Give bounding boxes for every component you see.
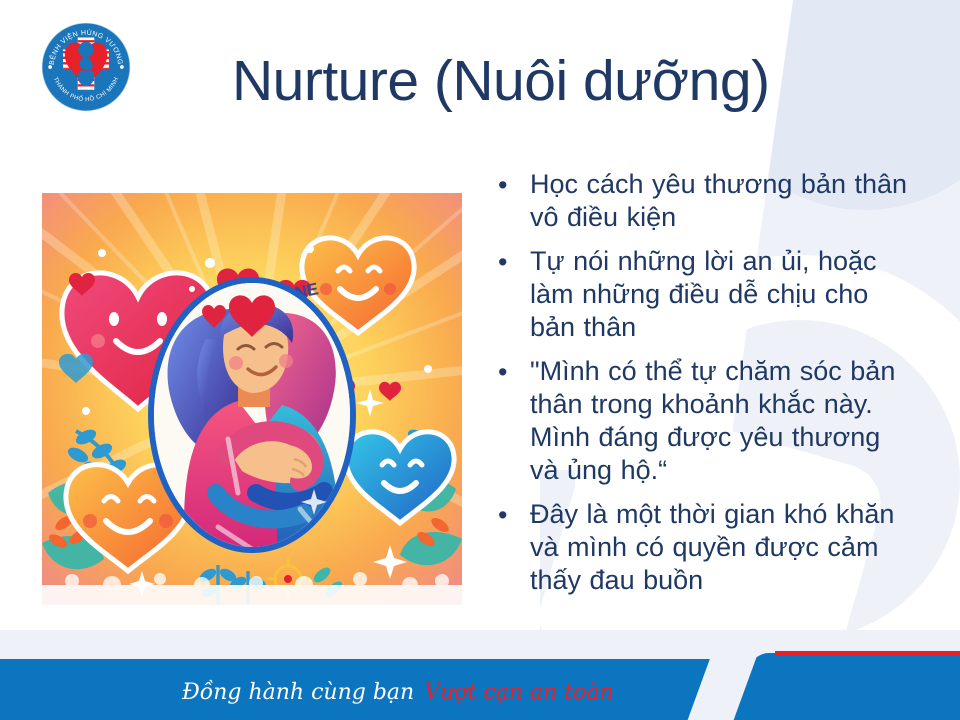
bullet-marker-icon: •	[493, 245, 530, 279]
bullet-text: Học cách yêu thương bản thân vô điều kiệ…	[530, 168, 913, 234]
bullet-marker-icon: •	[493, 498, 530, 532]
footer-band-right	[730, 653, 960, 720]
illustration-artwork: LNE	[42, 193, 462, 605]
footer	[0, 630, 960, 720]
bullet-list: • Học cách yêu thương bản thân vô điều k…	[493, 168, 913, 608]
footer-slogan: Đồng hành cùng bạnVượt cạn an toàn	[182, 680, 614, 705]
list-item: • Tự nói những lời an ủi, hoặc làm những…	[493, 245, 913, 344]
footer-slogan-white: Đồng hành cùng bạn	[182, 680, 414, 705]
bullet-text: Đây là một thời gian khó khăn và mình có…	[530, 498, 913, 597]
footer-red-stripe	[775, 651, 960, 656]
illustration: LNE	[42, 193, 462, 605]
bullet-marker-icon: •	[493, 168, 530, 202]
list-item: • "Mình có thể tự chăm sóc bản thân tron…	[493, 355, 913, 487]
bullet-marker-icon: •	[493, 355, 530, 389]
hospital-logo-icon: BỆNH VIỆN HÙNG VƯƠNG THÀNH PHỐ HỒ CHÍ MI…	[40, 21, 132, 113]
slide: BỆNH VIỆN HÙNG VƯƠNG THÀNH PHỐ HỒ CHÍ MI…	[0, 0, 960, 720]
hospital-logo: BỆNH VIỆN HÙNG VƯƠNG THÀNH PHỐ HỒ CHÍ MI…	[40, 21, 132, 113]
bullet-text: Tự nói những lời an ủi, hoặc làm những đ…	[530, 245, 913, 344]
list-item: • Học cách yêu thương bản thân vô điều k…	[493, 168, 913, 234]
list-item: • Đây là một thời gian khó khăn và mình …	[493, 498, 913, 597]
slide-title: Nurture (Nuôi dưỡng)	[232, 52, 872, 112]
bullet-text: "Mình có thể tự chăm sóc bản thân trong …	[530, 355, 913, 487]
footer-slogan-red: Vượt cạn an toàn	[424, 680, 613, 705]
